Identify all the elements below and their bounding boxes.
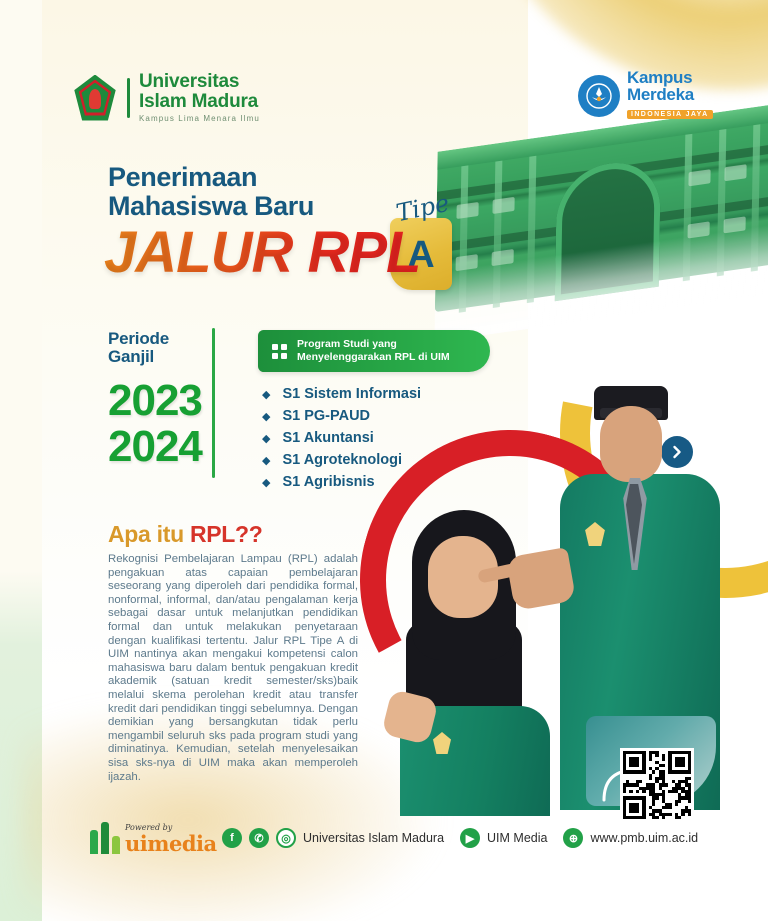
uimedia-logo: Powered by uimedia (90, 822, 217, 854)
list-item: ◆ S1 PG-PAUD (262, 408, 421, 424)
about-title-part1: Apa itu (108, 521, 190, 547)
website-url-label: www.pmb.uim.ac.id (590, 831, 698, 845)
twitter-icon[interactable]: ✆ (249, 828, 269, 848)
periode-divider (212, 328, 215, 478)
about-body-text: Rekognisi Pembelajaran Lampau (RPL) adal… (108, 553, 358, 784)
uimedia-mark-icon (90, 822, 120, 854)
prodi-banner: Program Studi yang Menyelenggarakan RPL … (258, 330, 490, 372)
about-title: Apa itu RPL?? (108, 521, 263, 548)
periode-block: Periode Ganjil 2023 2024 (108, 330, 202, 470)
headline-block: Penerimaan Mahasiswa Baru (108, 163, 314, 221)
kampus-merdeka-seal-icon (578, 75, 620, 117)
university-tagline: Kampus Lima Menara Ilmu (139, 114, 260, 123)
uim-seal-icon (72, 75, 118, 121)
diamond-bullet-icon: ◆ (262, 410, 270, 423)
headline-line2: Mahasiswa Baru (108, 192, 314, 221)
kampus-merdeka-word1: Kampus (627, 70, 713, 86)
logo-divider (127, 78, 130, 118)
periode-year-end: 2024 (108, 424, 202, 470)
social-handle-label: Universitas Islam Madura (303, 831, 444, 845)
periode-label-line2: Ganjil (108, 348, 202, 366)
prodi-name: S1 Agroteknologi (282, 452, 402, 468)
university-name-line2: Islam Madura (139, 92, 260, 112)
diamond-bullet-icon: ◆ (262, 454, 270, 467)
list-item: ◆ S1 Agribisnis (262, 474, 421, 490)
globe-icon[interactable]: ⊕ (563, 828, 583, 848)
jalur-rpl-title: JALUR RPL (104, 224, 420, 282)
about-title-part2: RPL?? (190, 521, 263, 547)
prodi-name: S1 Akuntansi (282, 430, 373, 446)
prodi-name: S1 Agribisnis (282, 474, 374, 490)
uimedia-name: uimedia (125, 833, 217, 854)
periode-label-line1: Periode (108, 330, 202, 348)
diamond-bullet-icon: ◆ (262, 432, 270, 445)
kampus-merdeka-logo: Kampus Merdeka INDONESIA JAYA (578, 70, 713, 121)
footer-bar: Powered by uimedia f ✆ ◎ Universitas Isl… (0, 818, 768, 866)
university-name-line1: Universitas (139, 72, 260, 92)
kampus-merdeka-tagline: INDONESIA JAYA (627, 110, 713, 119)
diamond-bullet-icon: ◆ (262, 388, 270, 401)
facebook-icon[interactable]: f (222, 828, 242, 848)
kampus-merdeka-word2: Merdeka (627, 86, 713, 103)
periode-year-start: 2023 (108, 378, 202, 424)
prodi-name: S1 Sistem Informasi (282, 386, 421, 402)
headline-line1: Penerimaan (108, 163, 314, 192)
instagram-icon[interactable]: ◎ (276, 828, 296, 848)
grid-squares-icon (272, 344, 287, 359)
youtube-icon[interactable]: ▶ (460, 828, 480, 848)
youtube-channel-label: UIM Media (487, 831, 547, 845)
university-logo: Universitas Islam Madura Kampus Lima Men… (72, 72, 260, 123)
social-links-row: f ✆ ◎ Universitas Islam Madura ▶ UIM Med… (222, 828, 707, 848)
list-item: ◆ S1 Sistem Informasi (262, 386, 421, 402)
prodi-banner-line1: Program Studi yang (297, 338, 450, 351)
prodi-banner-line2: Menyelenggarakan RPL di UIM (297, 351, 450, 364)
qr-code-icon[interactable] (620, 748, 694, 822)
prodi-list: ◆ S1 Sistem Informasi ◆ S1 PG-PAUD ◆ S1 … (262, 386, 421, 496)
prodi-name: S1 PG-PAUD (282, 408, 370, 424)
diamond-bullet-icon: ◆ (262, 476, 270, 489)
list-item: ◆ S1 Agroteknologi (262, 452, 421, 468)
list-item: ◆ S1 Akuntansi (262, 430, 421, 446)
poster-root: Universitas Islam Madura Kampus Lima Men… (0, 0, 768, 921)
jalur-title-row: JALUR RPL (104, 224, 420, 282)
